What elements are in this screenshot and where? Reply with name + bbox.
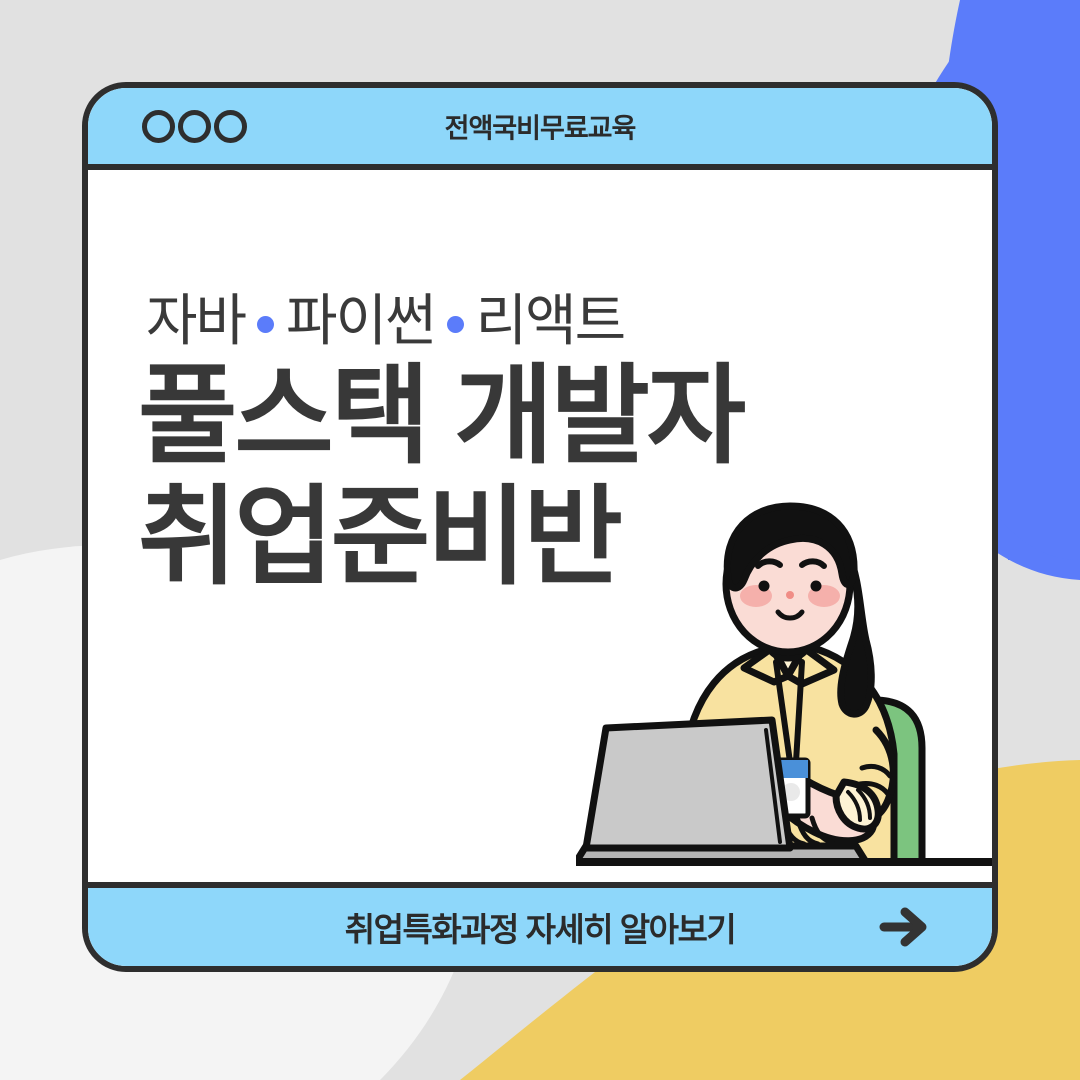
window-control-close-icon[interactable] — [142, 110, 175, 143]
window-controls — [142, 110, 247, 143]
eye-left — [759, 581, 770, 592]
laptop-lid — [586, 720, 790, 848]
eyebrow-tech-list: 자바 파이썬 리액트 — [146, 276, 624, 357]
poster-canvas: 전액국비무료교육 자바 파이썬 리액트 풀스택 개발자 취업준비반 — [0, 0, 1080, 1080]
arrow-right-icon[interactable] — [878, 905, 930, 949]
eyebrow-separator-dot-2 — [447, 316, 464, 333]
eyebrow-item-python: 파이썬 — [286, 276, 435, 357]
cta-bar[interactable]: 취업특화과정 자세히 알아보기 — [88, 882, 992, 966]
headline-line-1: 풀스택 개발자 — [138, 356, 743, 477]
eyebrow-item-java: 자바 — [146, 276, 245, 357]
eyebrow-separator-dot-1 — [257, 316, 274, 333]
window-control-minimize-icon[interactable] — [178, 110, 211, 143]
browser-window-card: 전액국비무료교육 자바 파이썬 리액트 풀스택 개발자 취업준비반 — [82, 82, 998, 972]
cta-label: 취업특화과정 자세히 알아보기 — [345, 903, 736, 951]
window-titlebar: 전액국비무료교육 — [88, 88, 992, 170]
nose — [786, 591, 794, 599]
window-control-maximize-icon[interactable] — [214, 110, 247, 143]
eye-right — [811, 581, 822, 592]
window-content: 자바 파이썬 리액트 풀스택 개발자 취업준비반 — [88, 170, 992, 882]
woman-at-laptop-illustration — [576, 462, 992, 882]
eyebrow-item-react: 리액트 — [476, 276, 625, 357]
